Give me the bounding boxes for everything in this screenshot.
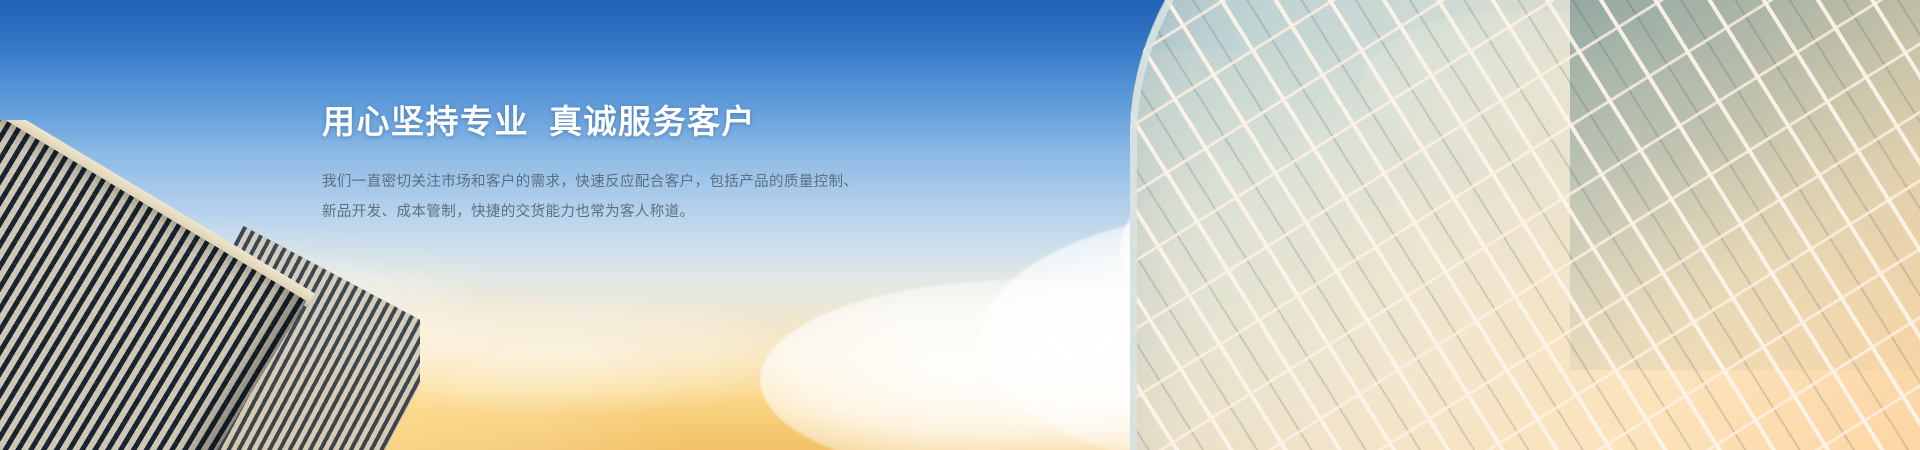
headline-part-1: 用心坚持专业 — [322, 103, 529, 140]
hero-banner: 用心坚持专业真诚服务客户 我们一直密切关注市场和客户的需求，快速反应配合客户，包… — [0, 0, 1920, 450]
tower-right-facade — [1130, 0, 1920, 450]
banner-subcopy: 我们一直密切关注市场和客户的需求，快速反应配合客户，包括产品的质量控制、 新品开… — [322, 168, 962, 227]
glass-mullion-secondary — [1130, 0, 1920, 450]
banner-text-block: 用心坚持专业真诚服务客户 我们一直密切关注市场和客户的需求，快速反应配合客户，包… — [322, 104, 962, 228]
banner-headline: 用心坚持专业真诚服务客户 — [322, 104, 962, 140]
subcopy-line-1: 我们一直密切关注市场和客户的需求，快速反应配合客户，包括产品的质量控制、 — [322, 168, 962, 198]
headline-part-2: 真诚服务客户 — [549, 103, 756, 140]
curved-glass-tower-right — [1060, 0, 1920, 450]
subcopy-line-2: 新品开发、成本管制，快捷的交货能力也常为客人称道。 — [322, 198, 962, 228]
